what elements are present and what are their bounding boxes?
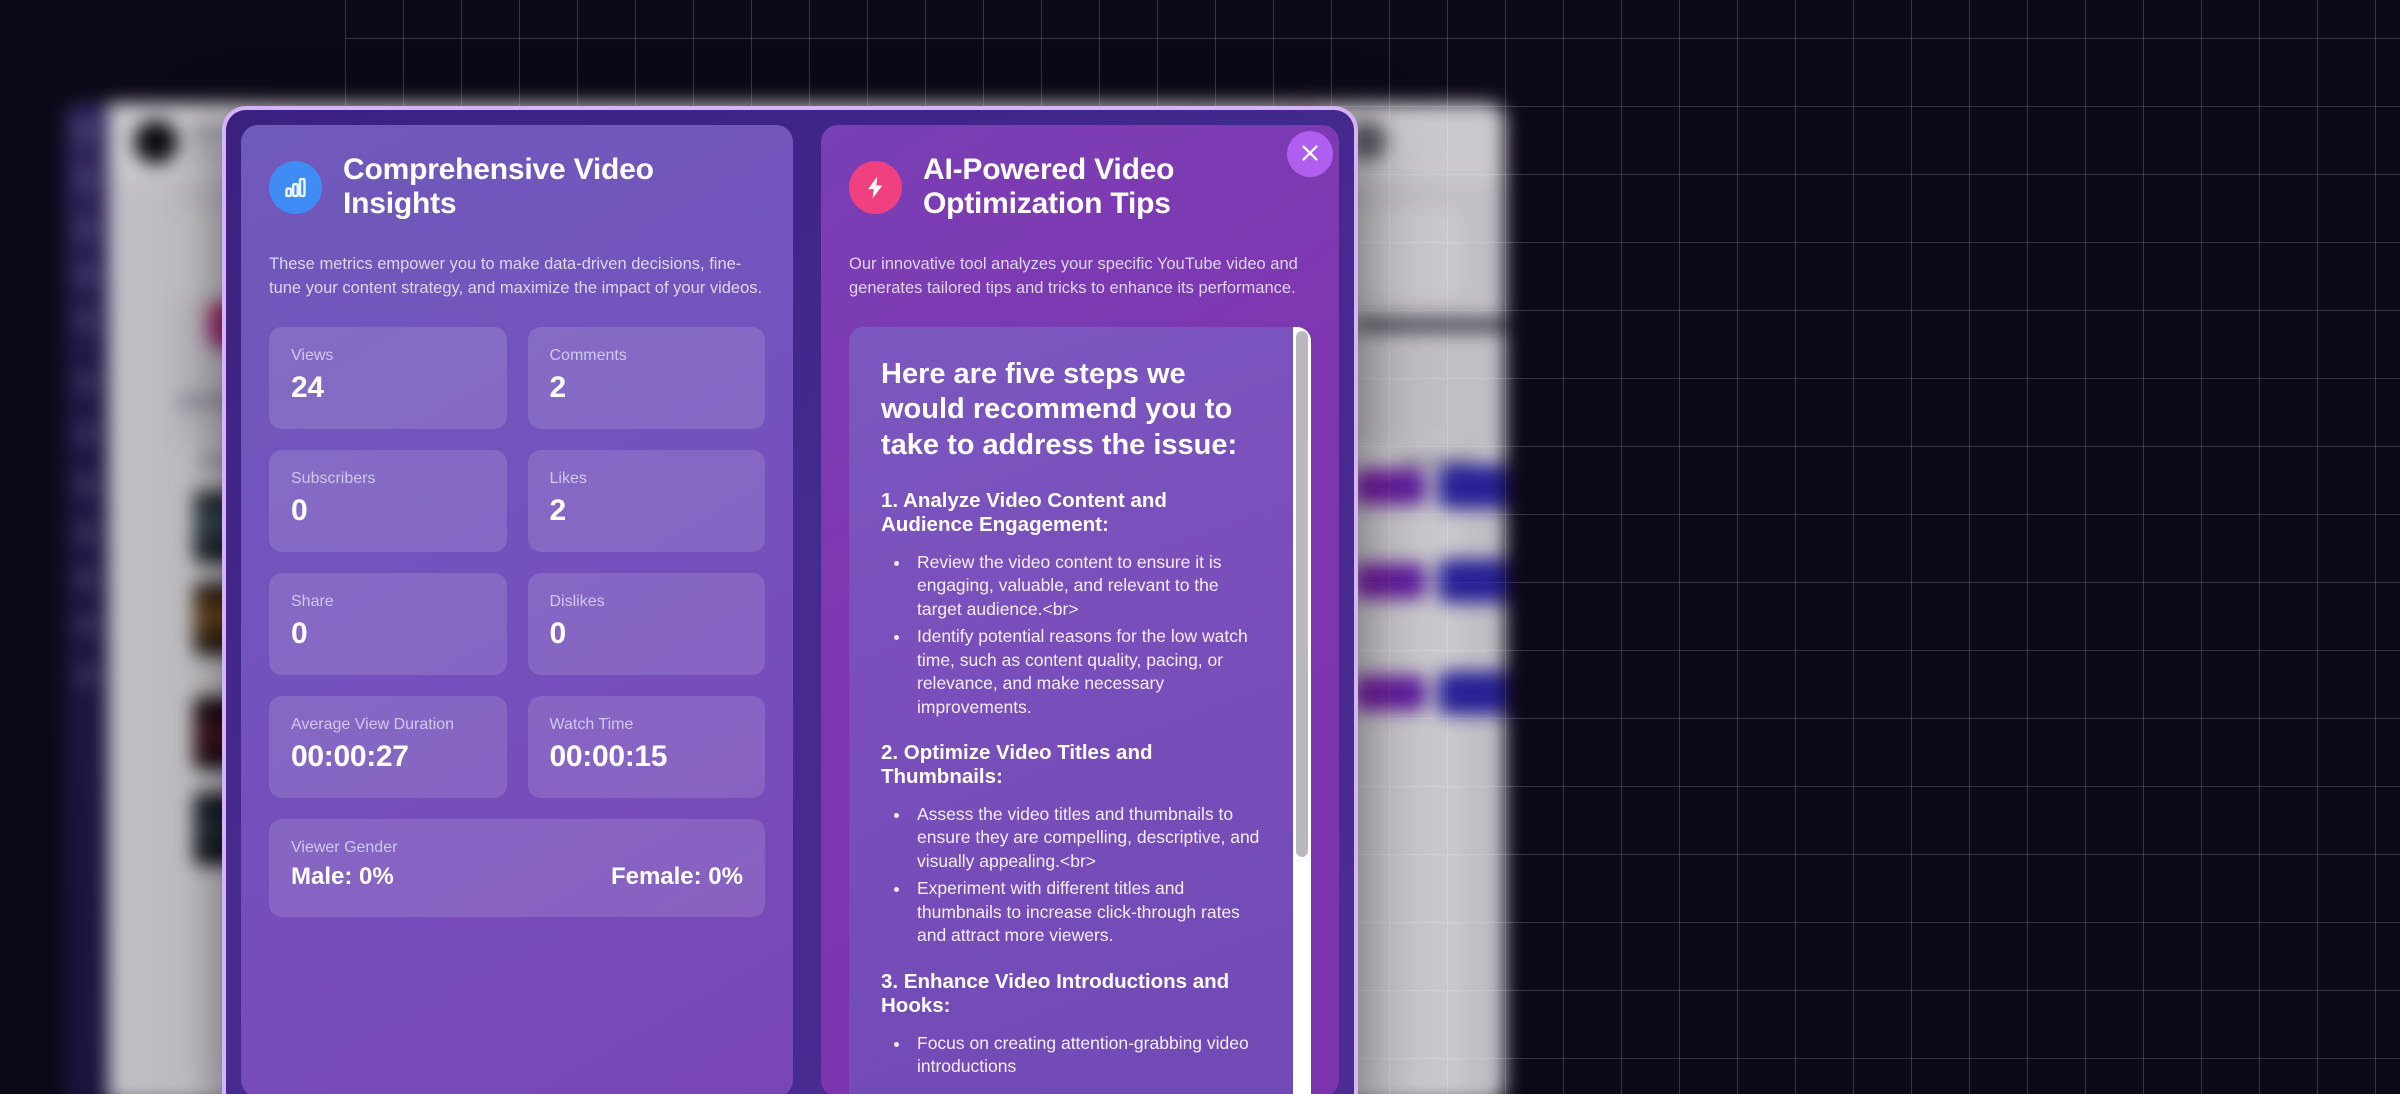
metrics-grid: Views 24 Comments 2 Subscribers 0 Likes … <box>269 327 765 917</box>
gender-male-value: Male: 0% <box>291 863 394 891</box>
tips-bullet: Identify potential reasons for the low w… <box>911 625 1263 719</box>
insights-panel: Comprehensive Video Insights These metri… <box>241 125 793 1094</box>
metric-value: 2 <box>550 371 744 405</box>
metric-card-comments: Comments 2 <box>528 327 766 429</box>
bar-chart-icon <box>269 161 322 214</box>
gender-female-value: Female: 0% <box>611 863 743 891</box>
metric-label: Subscribers <box>291 470 485 488</box>
metric-value: 24 <box>291 371 485 405</box>
background-avatar <box>134 120 178 164</box>
metric-card-likes: Likes 2 <box>528 450 766 552</box>
metric-value: 00:00:27 <box>291 740 485 774</box>
close-button[interactable] <box>1287 131 1333 177</box>
modal-inner: Comprehensive Video Insights These metri… <box>226 110 1354 1094</box>
ai-tips-scroll-region[interactable]: Here are five steps we would recommend y… <box>849 327 1293 1094</box>
tips-scrollbar-thumb[interactable] <box>1296 331 1308 857</box>
tips-step-bullets: Review the video content to ensure it is… <box>911 551 1263 719</box>
metric-label: Average View Duration <box>291 716 485 734</box>
tips-step-title: 3. Enhance Video Introductions and Hooks… <box>881 970 1263 1018</box>
background-sidebar <box>65 103 108 1094</box>
metric-card-views: Views 24 <box>269 327 507 429</box>
metric-card-viewer-gender: Viewer Gender Male: 0% Female: 0% <box>269 819 765 917</box>
metric-value: 0 <box>291 494 485 528</box>
insights-panel-header: Comprehensive Video Insights <box>269 153 765 221</box>
tips-bullet: Experiment with different titles and thu… <box>911 877 1263 947</box>
metric-value: 2 <box>550 494 744 528</box>
gender-split-row: Male: 0% Female: 0% <box>291 863 743 891</box>
ai-tips-panel-header: AI-Powered Video Optimization Tips <box>849 153 1311 221</box>
metric-card-average-view-duration: Average View Duration 00:00:27 <box>269 696 507 798</box>
metric-label: Share <box>291 593 485 611</box>
metric-label: Comments <box>550 347 744 365</box>
ai-tips-content-box: Here are five steps we would recommend y… <box>849 327 1311 1094</box>
ai-tips-panel-title: AI-Powered Video Optimization Tips <box>923 153 1311 221</box>
tips-bullet: Focus on creating attention-grabbing vid… <box>911 1032 1263 1079</box>
tips-bullet: Review the video content to ensure it is… <box>911 551 1263 621</box>
tips-step-bullets: Focus on creating attention-grabbing vid… <box>911 1032 1263 1079</box>
ai-tips-panel: AI-Powered Video Optimization Tips Our i… <box>821 125 1339 1094</box>
insights-modal: Comprehensive Video Insights These metri… <box>222 106 1358 1094</box>
metric-card-subscribers: Subscribers 0 <box>269 450 507 552</box>
insights-panel-title: Comprehensive Video Insights <box>343 153 765 221</box>
metric-card-watch-time: Watch Time 00:00:15 <box>528 696 766 798</box>
metric-value: 00:00:15 <box>550 740 744 774</box>
ai-tips-panel-description: Our innovative tool analyzes your specif… <box>849 253 1311 301</box>
tips-step-title: 2. Optimize Video Titles and Thumbnails: <box>881 741 1263 789</box>
insights-panel-description: These metrics empower you to make data-d… <box>269 253 765 301</box>
lightning-bolt-icon <box>849 161 902 214</box>
close-icon <box>1299 142 1321 167</box>
metric-value: 0 <box>550 617 744 651</box>
metric-label: Views <box>291 347 485 365</box>
metric-label: Dislikes <box>550 593 744 611</box>
metric-card-share: Share 0 <box>269 573 507 675</box>
tips-heading: Here are five steps we would recommend y… <box>881 357 1263 463</box>
tips-scrollbar-track[interactable] <box>1293 327 1311 1094</box>
tips-step-title: 1. Analyze Video Content and Audience En… <box>881 489 1263 537</box>
tips-step-bullets: Assess the video titles and thumbnails t… <box>911 803 1263 948</box>
metric-label: Viewer Gender <box>291 839 743 857</box>
metric-card-dislikes: Dislikes 0 <box>528 573 766 675</box>
metric-label: Watch Time <box>550 716 744 734</box>
metric-label: Likes <box>550 470 744 488</box>
metric-value: 0 <box>291 617 485 651</box>
tips-bullet: Assess the video titles and thumbnails t… <box>911 803 1263 873</box>
